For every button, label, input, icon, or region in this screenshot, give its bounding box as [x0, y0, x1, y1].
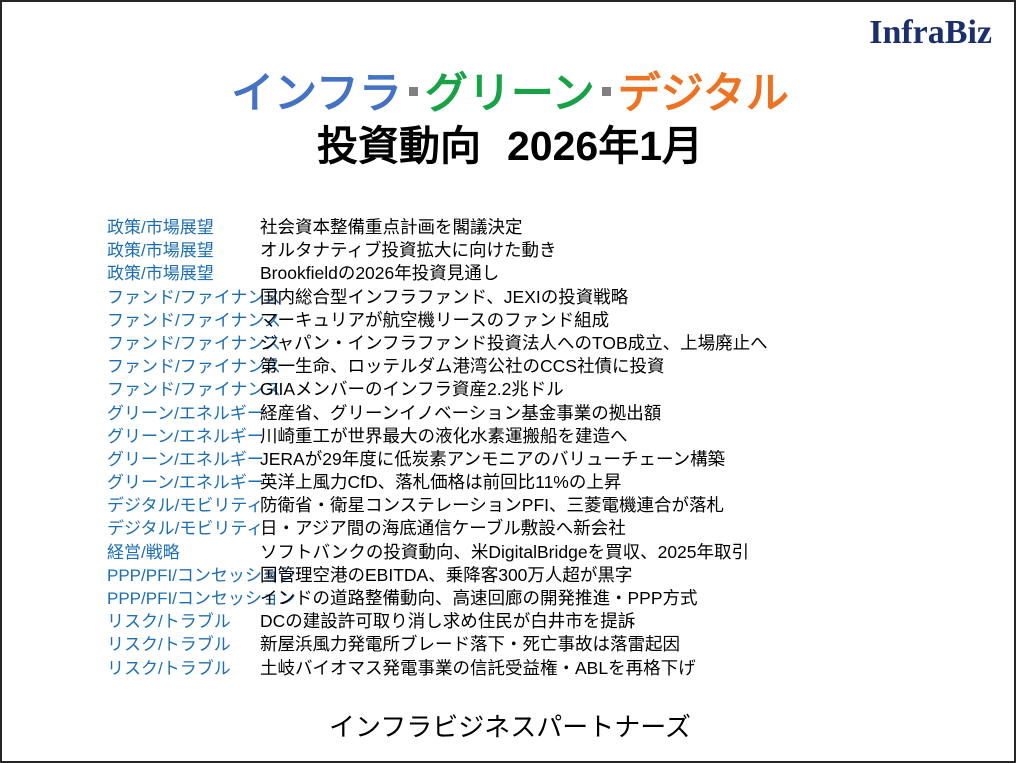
title-word-infra: インフラ	[231, 70, 402, 118]
news-row[interactable]: グリーン/エネルギー経産省、グリーンイノベーション基金事業の拠出額	[2, 402, 1016, 425]
news-row[interactable]: リスク/トラブルDCの建設許可取り消し求め住民が白井市を提訴	[2, 610, 1016, 633]
news-row-title: 日・アジア間の海底通信ケーブル敷設へ新会社	[260, 517, 626, 540]
news-row-category: リスク/トラブル	[2, 657, 260, 680]
news-row-title: 新屋浜風力発電所ブレード落下・死亡事故は落雷起因	[260, 633, 680, 656]
news-row-category: グリーン/エネルギー	[2, 448, 260, 471]
news-row[interactable]: 政策/市場展望オルタナティブ投資拡大に向けた動き	[2, 239, 1016, 262]
news-row-title: 経産省、グリーンイノベーション基金事業の拠出額	[260, 402, 661, 425]
news-row[interactable]: グリーン/エネルギーJERAが29年度に低炭素アンモニアのバリューチェーン構築	[2, 448, 1016, 471]
news-row[interactable]: ファンド/ファイナンスマーキュリアが航空機リースのファンド組成	[2, 309, 1016, 332]
news-row-category: ファンド/ファイナンス	[2, 309, 260, 332]
title-block: インフラグリーンデジタル 投資動向2026年1月	[2, 70, 1016, 173]
title-word-green: グリーン	[425, 70, 595, 118]
news-row[interactable]: デジタル/モビリティ防衛省・衛星コンステレーションPFI、三菱電機連合が落札	[2, 494, 1016, 517]
news-row-title: 国管理空港のEBITDA、乗降客300万人超が黒字	[260, 564, 632, 587]
news-row-category: デジタル/モビリティ	[2, 494, 260, 517]
news-row-title: JERAが29年度に低炭素アンモニアのバリューチェーン構築	[260, 448, 725, 471]
news-row-category: リスク/トラブル	[2, 610, 260, 633]
news-row-category: グリーン/エネルギー	[2, 471, 260, 494]
news-list: 政策/市場展望社会資本整備重点計画を閣議決定政策/市場展望オルタナティブ投資拡大…	[2, 216, 1016, 680]
news-row-category: ファンド/ファイナンス	[2, 332, 260, 355]
news-row-category: ファンド/ファイナンス	[2, 355, 260, 378]
news-row-category: グリーン/エネルギー	[2, 402, 260, 425]
news-row-category: PPP/PFI/コンセッション	[2, 587, 260, 610]
title-subtitle-main: 投資動向	[317, 123, 481, 169]
title-line-secondary: 投資動向2026年1月	[2, 120, 1016, 173]
news-row[interactable]: ファンド/ファイナンス第一生命、ロッテルダム港湾公社のCCS社債に投資	[2, 355, 1016, 378]
news-row-category: 政策/市場展望	[2, 239, 260, 262]
title-word-digital: デジタル	[618, 70, 789, 118]
news-row[interactable]: ファンド/ファイナンス国内総合型インフラファンド、JEXIの投資戦略	[2, 286, 1016, 309]
news-row[interactable]: 政策/市場展望社会資本整備重点計画を閣議決定	[2, 216, 1016, 239]
news-row-title: インドの道路整備動向、高速回廊の開発推進・PPP方式	[260, 587, 698, 610]
news-row-title: 第一生命、ロッテルダム港湾公社のCCS社債に投資	[260, 355, 664, 378]
news-row-title: マーキュリアが航空機リースのファンド組成	[260, 309, 609, 332]
news-row[interactable]: ファンド/ファイナンスジャパン・インフラファンド投資法人へのTOB成立、上場廃止…	[2, 332, 1016, 355]
news-row-title: 英洋上風力CfD、落札価格は前回比11%の上昇	[260, 471, 621, 494]
news-row-category: 政策/市場展望	[2, 262, 260, 285]
news-row[interactable]: PPP/PFI/コンセッションインドの道路整備動向、高速回廊の開発推進・PPP方…	[2, 587, 1016, 610]
footer-company-name: インフラビジネスパートナーズ	[2, 707, 1016, 744]
news-row-category: リスク/トラブル	[2, 633, 260, 656]
news-row-title: 防衛省・衛星コンステレーションPFI、三菱電機連合が落札	[260, 494, 724, 517]
slide-canvas: InfraBiz インフラグリーンデジタル 投資動向2026年1月 政策/市場展…	[0, 0, 1016, 763]
brand-logo: InfraBiz	[869, 16, 992, 50]
news-row-category: ファンド/ファイナンス	[2, 286, 260, 309]
news-row-category: デジタル/モビリティ	[2, 517, 260, 540]
news-row-title: ジャパン・インフラファンド投資法人へのTOB成立、上場廃止へ	[260, 332, 768, 355]
news-row-title: ソフトバンクの投資動向、米DigitalBridgeを買収、2025年取引	[260, 541, 749, 564]
news-row-title: 社会資本整備重点計画を閣議決定	[260, 216, 523, 239]
news-row-category: PPP/PFI/コンセッション	[2, 564, 260, 587]
news-row-title: DCの建設許可取り消し求め住民が白井市を提訴	[260, 610, 635, 633]
news-row-title: 川崎重工が世界最大の液化水素運搬船を建造へ	[260, 425, 628, 448]
news-row-category: 経営/戦略	[2, 541, 260, 564]
news-row[interactable]: グリーン/エネルギー英洋上風力CfD、落札価格は前回比11%の上昇	[2, 471, 1016, 494]
news-row-title: 国内総合型インフラファンド、JEXIの投資戦略	[260, 286, 628, 309]
title-separator-dot-2	[602, 87, 611, 96]
news-row-title: オルタナティブ投資拡大に向けた動き	[260, 239, 556, 262]
news-row-category: ファンド/ファイナンス	[2, 378, 260, 401]
news-row[interactable]: デジタル/モビリティ日・アジア間の海底通信ケーブル敷設へ新会社	[2, 517, 1016, 540]
news-row[interactable]: リスク/トラブル新屋浜風力発電所ブレード落下・死亡事故は落雷起因	[2, 633, 1016, 656]
news-row-title: Brookfieldの2026年投資見通し	[260, 262, 499, 285]
news-row[interactable]: ファンド/ファイナンスGIIAメンバーのインフラ資産2.2兆ドル	[2, 378, 1016, 401]
news-row[interactable]: 政策/市場展望Brookfieldの2026年投資見通し	[2, 262, 1016, 285]
title-subtitle-date: 2026年1月	[507, 123, 703, 169]
news-row[interactable]: 経営/戦略ソフトバンクの投資動向、米DigitalBridgeを買収、2025年…	[2, 541, 1016, 564]
news-row[interactable]: グリーン/エネルギー川崎重工が世界最大の液化水素運搬船を建造へ	[2, 425, 1016, 448]
news-row-title: 土岐バイオマス発電事業の信託受益権・ABLを再格下げ	[260, 657, 696, 680]
title-separator-dot-1	[409, 87, 418, 96]
title-line-primary: インフラグリーンデジタル	[2, 70, 1016, 118]
news-row[interactable]: PPP/PFI/コンセッション国管理空港のEBITDA、乗降客300万人超が黒字	[2, 564, 1016, 587]
news-row[interactable]: リスク/トラブル土岐バイオマス発電事業の信託受益権・ABLを再格下げ	[2, 657, 1016, 680]
news-row-category: 政策/市場展望	[2, 216, 260, 239]
news-row-category: グリーン/エネルギー	[2, 425, 260, 448]
news-row-title: GIIAメンバーのインフラ資産2.2兆ドル	[260, 378, 564, 401]
